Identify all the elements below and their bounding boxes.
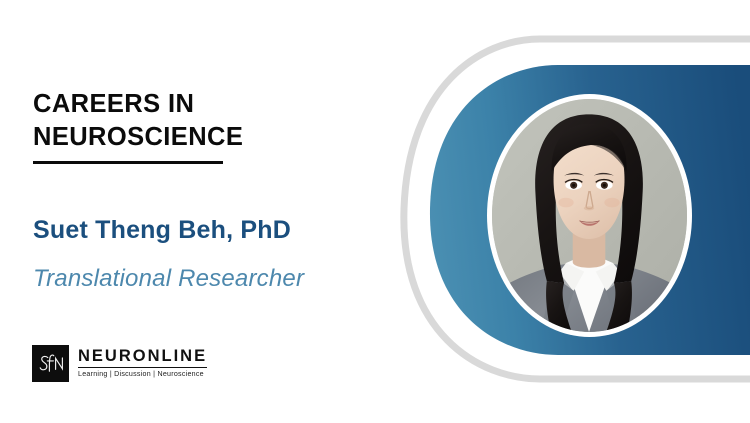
page-title: CAREERS IN NEUROSCIENCE (33, 88, 363, 154)
portrait-frame (487, 94, 692, 337)
person-role: Translational Researcher (33, 265, 304, 293)
logo-text-block: NEURONLINE Learning | Discussion | Neuro… (78, 348, 207, 379)
person-name: Suet Theng Beh, PhD (33, 216, 291, 245)
neuronline-logo[interactable]: NEURONLINE Learning | Discussion | Neuro… (32, 345, 207, 382)
portrait-illustration (492, 99, 687, 332)
logo-tagline: Learning | Discussion | Neuroscience (78, 368, 207, 379)
logo-wordmark: NEURONLINE (78, 348, 207, 368)
sfn-logo-icon (32, 345, 69, 382)
title-underline-rule (33, 161, 223, 164)
sfn-monogram-glyph (32, 345, 69, 382)
avatar (492, 99, 687, 332)
slide-canvas: CAREERS IN NEUROSCIENCE Suet Theng Beh, … (0, 0, 750, 423)
